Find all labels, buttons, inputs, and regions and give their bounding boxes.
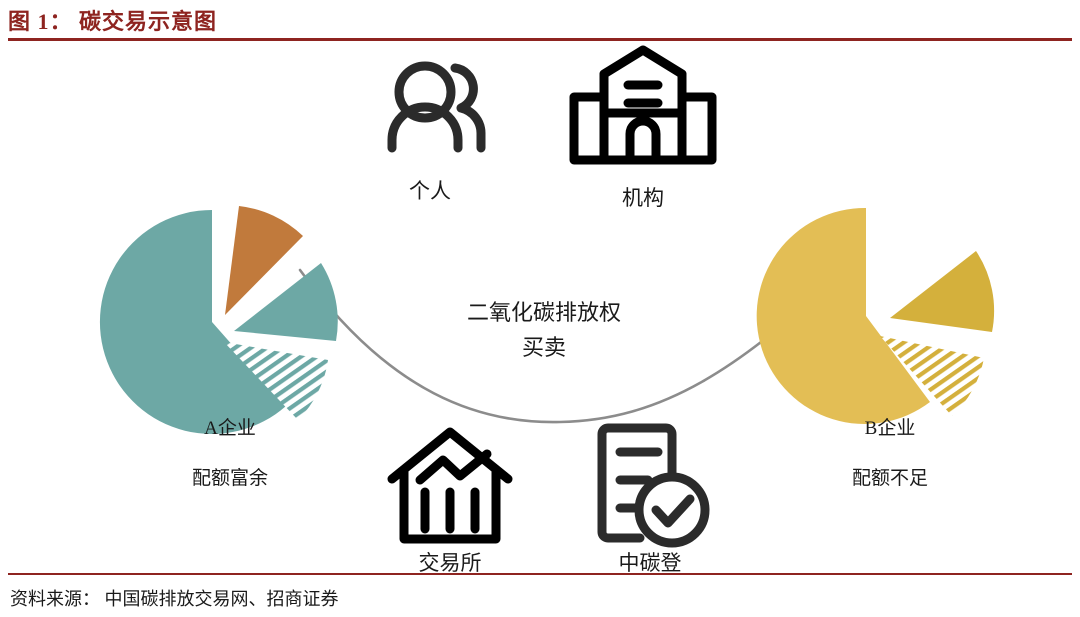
pie-b-slice-bought — [890, 251, 994, 332]
company-b-name: B企业 — [865, 413, 916, 440]
company-a-status: 配额富余 — [192, 463, 268, 490]
diagram-canvas: 个人 机构 交易所 中碳登 二氧化碳排放权 买卖 A企业 配额富余 B企业 配额… — [0, 42, 1080, 572]
footer-divider — [8, 573, 1072, 575]
building-icon — [574, 50, 712, 160]
company-b-status: 配额不足 — [852, 463, 928, 490]
document-check-icon — [602, 428, 705, 543]
exchange-house-chart-icon — [392, 432, 508, 539]
two-people-icon — [392, 66, 481, 148]
company-a-name: A企业 — [204, 413, 256, 440]
figure-title: 图 1： 碳交易示意图 — [8, 4, 217, 36]
flow-label-line2: 买卖 — [522, 330, 566, 362]
title-divider — [8, 38, 1072, 41]
figure-source: 资料来源： 中国碳排放交易网、招商证券 — [10, 585, 339, 611]
participant-label-individual: 个人 — [409, 175, 451, 205]
participant-label-institution: 机构 — [622, 182, 664, 212]
flow-label-line1: 二氧化碳排放权 — [467, 295, 621, 327]
pie-company-a — [100, 206, 338, 434]
pie-company-b — [757, 208, 994, 424]
figure-container: 图 1： 碳交易示意图 — [0, 0, 1080, 617]
